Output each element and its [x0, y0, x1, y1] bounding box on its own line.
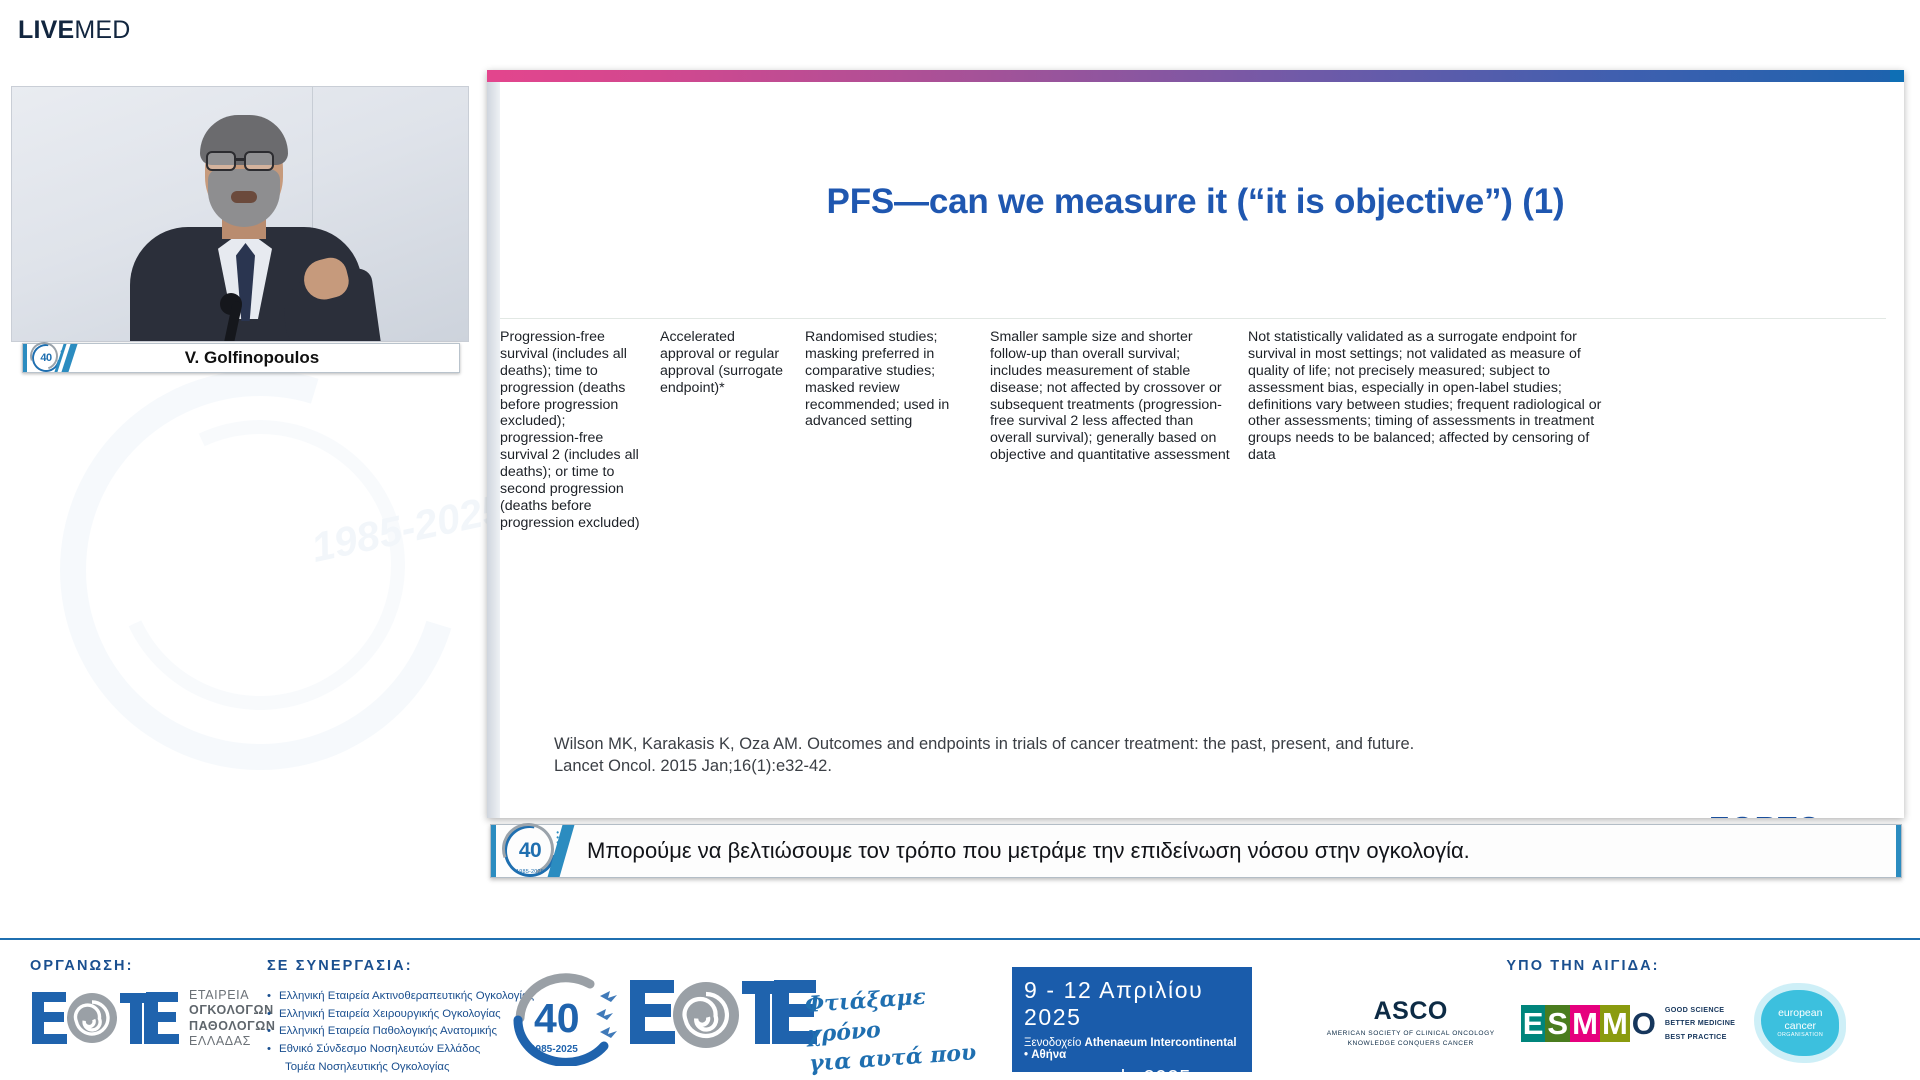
asco-subtitle-line-1: AMERICAN SOCIETY OF CLINICAL ONCOLOGY: [1327, 1029, 1495, 1039]
svg-text:40: 40: [534, 995, 580, 1041]
caption-bar: 40 1985-2025 ••• Μπορούμε να βελτιώσουμε…: [490, 824, 1902, 878]
auspices-title: ΥΠΟ ΤΗΝ ΑΙΓΙΔΑ:: [1268, 958, 1898, 974]
esmo-letter-o: O: [1630, 1005, 1658, 1042]
esmo-tagline-3: BEST PRACTICE: [1665, 1030, 1735, 1043]
table-column-design: Randomised studies; masking preferred in…: [805, 319, 990, 532]
congress-main-logo: 40 1985-2025: [508, 960, 1008, 1070]
organizer-section: ΟΡΓΑΝΩΣΗ: ΕΤΑΙΡΕΙΑ: [30, 958, 276, 1049]
slide-top-gradient-bar: [487, 70, 1904, 82]
list-item: Ελληνική Εταιρεία Χειρουργικής Ογκολογία…: [267, 1006, 537, 1024]
screen-root: LIVEMED 1985-2025 40: [0, 0, 1920, 1080]
organizer-title: ΟΡΓΑΝΩΣΗ:: [30, 958, 276, 974]
eope-mark-icon: [30, 990, 180, 1048]
eortc-logo: EORTC European Organisation for Research…: [1648, 812, 1859, 818]
caption-text: Μπορούμε να βελτιώσουμε τον τρόπο που με…: [569, 838, 1901, 864]
watermark-ring-outer: [20, 360, 530, 780]
eco-line-2: cancer: [1777, 1020, 1823, 1032]
presentation-slide[interactable]: PFS—can we measure it (“it is objective”…: [487, 70, 1904, 818]
esmo-letters-icon: E S M M O: [1521, 1005, 1658, 1042]
asco-name: ASCO: [1327, 997, 1495, 1026]
speaker-name: V. Golfinopoulos: [69, 348, 459, 368]
slide-citation: Wilson MK, Karakasis K, Oza AM. Outcomes…: [554, 733, 1844, 778]
svg-text:1985-2025: 1985-2025: [530, 1044, 578, 1055]
anniversary-40-icon: 40 1985-2025: [508, 970, 636, 1066]
eope-word-2: ΟΓΚΟΛΟΓΩΝ: [189, 1003, 276, 1018]
caption-badge-slot: 40 1985-2025 •••: [491, 825, 569, 877]
citation-line-2: Lancet Oncol. 2015 Jan;16(1):e32-42.: [554, 755, 1844, 777]
collaboration-list: Ελληνική Εταιρεία Ακτινοθεραπευτικής Ογκ…: [267, 988, 537, 1076]
asco-subtitle: AMERICAN SOCIETY OF CLINICAL ONCOLOGY KN…: [1327, 1029, 1495, 1049]
list-item: Ελληνική Εταιρεία Ακτινοθεραπευτικής Ογκ…: [267, 988, 537, 1006]
speaker-mouth: [231, 191, 257, 203]
brand-part-med: MED: [74, 16, 130, 44]
eope-logo: ΕΤΑΙΡΕΙΑ ΟΓΚΟΛΟΓΩΝ ΠΑΘΟΛΟΓΩΝ ΕΛΛΑΔΑΣ: [30, 988, 276, 1049]
citation-line-1: Wilson MK, Karakasis K, Oza AM. Outcomes…: [554, 733, 1844, 755]
eortc-name: EORTC: [1709, 812, 1859, 818]
watermark-ring-inner: [74, 379, 446, 751]
slide-title: PFS—can we measure it (“it is objective”…: [487, 182, 1904, 222]
event-info-box: 9 - 12 Απριλίου 2025 Ξενοδοχείο Athenaeu…: [1012, 967, 1252, 1072]
table-column-approval: Accelerated approval or regular approval…: [660, 319, 805, 532]
name-bar-badge-slot: 40 •••: [23, 344, 69, 372]
eortc-text: EORTC European Organisation for Research…: [1709, 812, 1859, 818]
list-item: Εθνικό Σύνδεσμο Νοσηλευτών Ελλάδος: [267, 1041, 537, 1059]
list-item-continuation: Τομέα Νοσηλευτικής Ογκολογίας: [267, 1059, 537, 1077]
esmo-tagline-1: GOOD SCIENCE: [1665, 1003, 1735, 1016]
eco-line-1: european: [1777, 1007, 1823, 1019]
asco-logo: ASCO AMERICAN SOCIETY OF CLINICAL ONCOLO…: [1327, 997, 1495, 1049]
esmo-letter-s: S: [1545, 1005, 1570, 1042]
sponsor-band: ΟΡΓΑΝΩΣΗ: ΕΤΑΙΡΕΙΑ: [0, 938, 1920, 1080]
watermark-years: 1985-2025: [307, 485, 509, 572]
table-column-advantages: Smaller sample size and shorter follow-u…: [990, 319, 1248, 532]
event-website[interactable]: www.esko2025.gr: [1024, 1067, 1240, 1080]
event-dates: 9 - 12 Απριλίου 2025: [1024, 977, 1240, 1031]
eope-word-4: ΕΛΛΑΔΑΣ: [189, 1034, 276, 1049]
caption-right-edge: [1896, 825, 1901, 877]
slide-top-bar-blue-end: [1890, 70, 1904, 82]
eco-text: european cancer ORGANISATION: [1777, 1007, 1823, 1038]
eope-word-3: ΠΑΘΟΛΟΓΩΝ: [189, 1019, 276, 1034]
esmo-letter-e: E: [1521, 1005, 1546, 1042]
glasses-right-lens: [244, 151, 274, 171]
venue-prefix: Ξενοδοχείο: [1024, 1037, 1085, 1049]
event-venue: Ξενοδοχείο Athenaeum Intercontinental • …: [1024, 1037, 1240, 1061]
asco-subtitle-line-2: KNOWLEDGE CONQUERS CANCER: [1327, 1039, 1495, 1049]
brand-part-live: LIVE: [18, 16, 74, 44]
esmo-logo: E S M M O GOOD SCIENCE BETTER MEDICINE B…: [1521, 1003, 1736, 1043]
glasses-left-lens: [206, 151, 236, 171]
auspices-section: ΥΠΟ ΤΗΝ ΑΙΓΙΔΑ: ASCO AMERICAN SOCIETY OF…: [1268, 958, 1898, 1056]
esmo-letter-m2: M: [1600, 1005, 1630, 1042]
congress-tagline: Φτιάξαμε χρόνο για αυτά που αξίζουν: [804, 977, 1012, 1080]
eope-big-wordmark-icon: [628, 978, 818, 1052]
speaker-video[interactable]: [11, 86, 469, 342]
eco-line-3: ORGANISATION: [1777, 1032, 1823, 1038]
esmo-tagline: GOOD SCIENCE BETTER MEDICINE BEST PRACTI…: [1665, 1003, 1735, 1043]
eope-word-1: ΕΤΑΙΡΕΙΑ: [189, 988, 276, 1003]
speaker-name-bar: 40 ••• V. Golfinopoulos: [22, 343, 460, 373]
endpoint-table: Progression-free survival (includes all …: [500, 318, 1886, 532]
livemed-logo: LIVEMED: [18, 16, 131, 45]
table-column-definition: Progression-free survival (includes all …: [500, 319, 660, 532]
collaboration-section: ΣΕ ΣΥΝΕΡΓΑΣΙΑ: Ελληνική Εταιρεία Ακτινοθ…: [267, 958, 537, 1076]
auspices-logos: ASCO AMERICAN SOCIETY OF CLINICAL ONCOLO…: [1268, 990, 1898, 1056]
glasses-bridge: [236, 158, 244, 161]
collaboration-title: ΣΕ ΣΥΝΕΡΓΑΣΙΑ:: [267, 958, 537, 974]
eortc-cube-icon: [1648, 815, 1700, 818]
eope-wordmark: ΕΤΑΙΡΕΙΑ ΟΓΚΟΛΟΓΩΝ ΠΑΘΟΛΟΓΩΝ ΕΛΛΑΔΑΣ: [189, 988, 276, 1049]
table-column-disadvantages: Not statistically validated as a surroga…: [1248, 319, 1603, 532]
esmo-letter-m1: M: [1570, 1005, 1600, 1042]
european-cancer-organisation-logo: european cancer ORGANISATION: [1761, 990, 1839, 1056]
list-item: Ελληνική Εταιρεία Παθολογικής Ανατομικής: [267, 1023, 537, 1041]
esmo-tagline-2: BETTER MEDICINE: [1665, 1016, 1735, 1029]
